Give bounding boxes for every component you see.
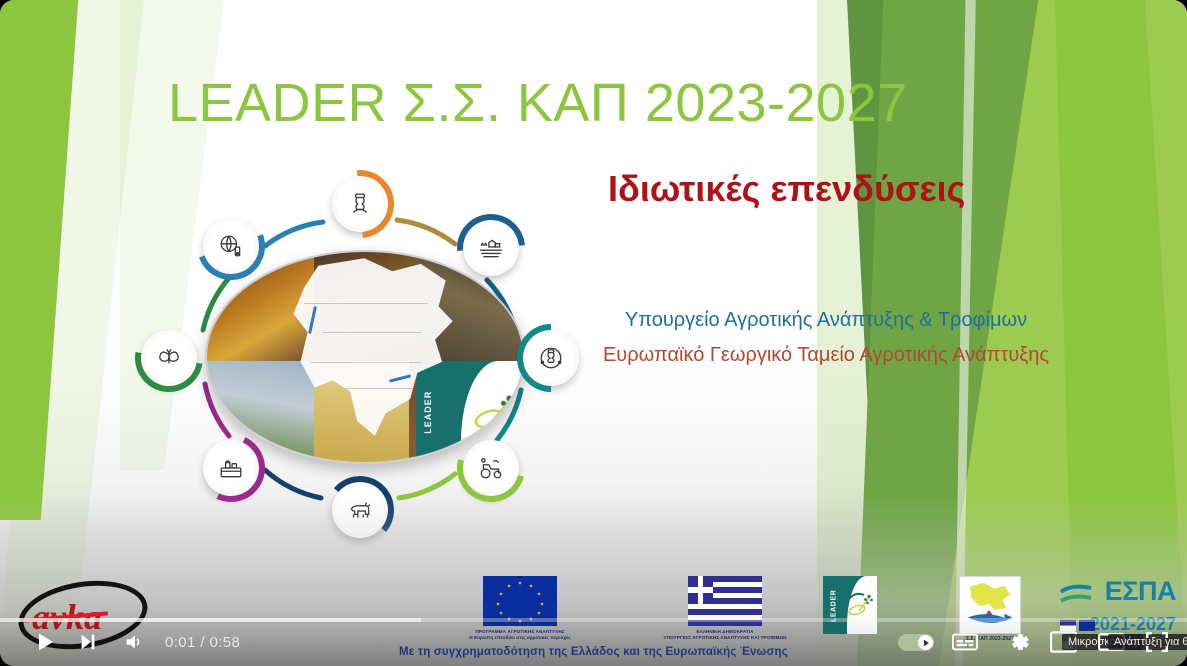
diagram-icon-globe-search[interactable] [203, 218, 259, 274]
diagram-icon-livestock[interactable] [332, 482, 388, 538]
globe-search-icon [218, 233, 244, 259]
fund-label: Ευρωπαϊκό Γεωργικό Ταμείο Αγροτικής Ανάπ… [600, 343, 1052, 369]
diagram-icon-farm-village[interactable] [463, 220, 519, 276]
ministry-label: Υπουργείο Αγροτικής Ανάπτυξης & Τροφίμων [600, 308, 1052, 334]
craft-pottery-icon [347, 191, 373, 217]
player-control-bar[interactable]: 0:01 / 0:58 [0, 610, 1187, 666]
settings-button[interactable] [1002, 628, 1036, 656]
gear-icon [1006, 629, 1032, 655]
diagram-icon-craft-pottery[interactable] [332, 176, 388, 232]
diagram-icon-tractor[interactable] [463, 440, 519, 496]
leader-circle-diagram: LEADER [125, 168, 595, 546]
diagram-icon-honey-crate[interactable] [203, 440, 259, 496]
espa-word: ΕΣΠΑ [1105, 578, 1176, 605]
tractor-icon [478, 455, 504, 481]
local-product-icon [538, 345, 564, 371]
leader-emblem-word: LEADER [420, 369, 436, 456]
page-title: LEADER Σ.Σ. ΚΑΠ 2023-2027 [168, 72, 908, 134]
autoplay-knob [918, 635, 933, 650]
central-oval-collage: LEADER [205, 250, 525, 464]
livestock-icon [347, 497, 373, 523]
honey-crate-icon [218, 455, 244, 481]
progress-buffered [0, 618, 421, 622]
play-button[interactable] [28, 628, 62, 656]
volume-icon [123, 631, 145, 653]
next-button[interactable] [72, 628, 104, 656]
fullscreen-icon [1144, 630, 1170, 654]
slide-subtitle: Ιδιωτικές επενδύσεις [608, 168, 965, 210]
subtitles-button[interactable] [948, 628, 982, 656]
progress-bar[interactable] [0, 618, 1187, 622]
autoplay-toggle[interactable] [898, 634, 934, 651]
time-display: 0:01 / 0:58 [165, 634, 240, 651]
organisation-block: Υπουργείο Αγροτικής Ανάπτυξης & Τροφίμων… [600, 308, 1052, 368]
fullscreen-button[interactable] [1140, 628, 1174, 656]
next-track-icon [77, 631, 99, 653]
slide-canvas: LEADER Σ.Σ. ΚΑΠ 2023-2027 Ιδιωτικές επεν… [0, 0, 1187, 666]
farm-village-icon [478, 235, 504, 261]
autoplay-play-icon [921, 638, 931, 648]
volume-button[interactable] [118, 628, 150, 656]
diagram-icon-butterfly[interactable] [141, 330, 197, 386]
video-player[interactable]: LEADER Σ.Σ. ΚΑΠ 2023-2027 Ιδιωτικές επεν… [0, 0, 1187, 666]
diagram-icon-local-product[interactable] [523, 330, 579, 386]
play-icon [33, 630, 57, 654]
butterfly-icon [156, 345, 182, 371]
espa-swoosh-icon [1060, 582, 1094, 608]
progress-played [0, 618, 20, 622]
subtitles-icon [952, 632, 978, 652]
